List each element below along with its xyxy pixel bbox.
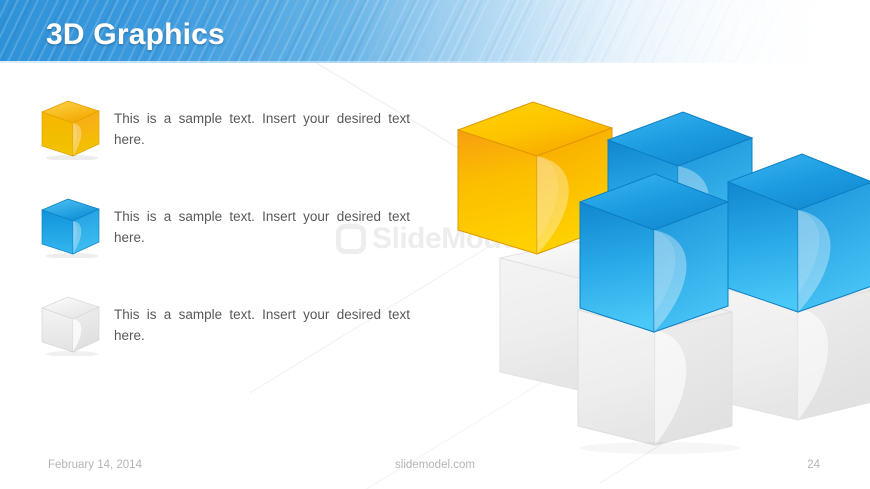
list-item-text: This is a sample text. Insert your desir… bbox=[114, 304, 410, 367]
footer-site-link[interactable]: slidemodel.com bbox=[0, 459, 870, 471]
slide: 3D Graphics SlideModel .com bbox=[0, 0, 870, 489]
list-item-text: This is a sample text. Insert your desir… bbox=[114, 108, 410, 171]
3d-cube-cluster bbox=[440, 90, 870, 460]
header-bottom-edge bbox=[0, 61, 870, 63]
cube-blue-front-left bbox=[580, 174, 728, 332]
cube-blue-front-right bbox=[728, 154, 870, 312]
cube-icon-yellow bbox=[38, 98, 104, 160]
list-item-text: This is a sample text. Insert your desir… bbox=[114, 206, 410, 269]
cube-icon-blue bbox=[38, 196, 104, 258]
slide-footer: February 14, 2014 slidemodel.com 24 bbox=[0, 449, 870, 489]
cube-icon-white bbox=[38, 294, 104, 356]
slide-header: 3D Graphics bbox=[0, 0, 870, 63]
list-item[interactable]: This is a sample text. Insert your desir… bbox=[38, 194, 418, 292]
bullet-list: This is a sample text. Insert your desir… bbox=[38, 96, 418, 390]
list-item[interactable]: This is a sample text. Insert your desir… bbox=[38, 292, 418, 390]
page-title: 3D Graphics bbox=[46, 18, 225, 52]
list-item[interactable]: This is a sample text. Insert your desir… bbox=[38, 96, 418, 194]
footer-page-number: 24 bbox=[807, 459, 820, 471]
